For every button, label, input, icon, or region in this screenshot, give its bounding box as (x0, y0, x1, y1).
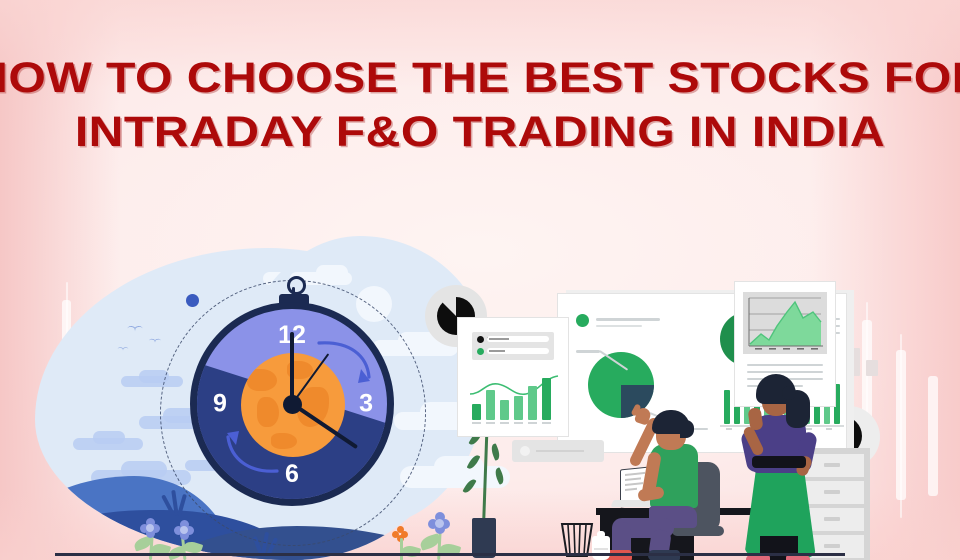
flower-icon (428, 512, 450, 534)
bird-icon (117, 347, 128, 353)
clock-numeral-6: 6 (285, 462, 299, 487)
console-device (512, 440, 604, 462)
title-line-2: INTRADAY F&O TRADING IN INDIA (0, 110, 960, 155)
list-card (472, 332, 554, 360)
title-line-1: HOW TO CHOOSE THE BEST STOCKS FOR (0, 56, 960, 101)
clock-numeral-9: 9 (213, 392, 227, 417)
clock-face: 12 3 6 9 (190, 302, 394, 506)
stopwatch-clock: 12 3 6 9 (160, 280, 428, 548)
left-dashboard-screen (458, 318, 568, 436)
illustration: 12 3 6 9 (0, 230, 960, 560)
flower-icon (140, 518, 160, 538)
bullet-dot-dark (477, 336, 484, 343)
clock-hour-hand (290, 332, 295, 404)
flower-icon (174, 520, 194, 540)
clock-orbit-dot (186, 294, 199, 307)
bird-icon (127, 326, 143, 334)
poster-canvas: HOW TO CHOOSE THE BEST STOCKS FOR INTRAD… (0, 0, 960, 560)
clock-center-hub (283, 395, 302, 414)
clockwise-arrow-icon (315, 335, 377, 391)
right-poster-area-chart (743, 292, 827, 354)
water-jug (592, 536, 610, 560)
woman-belt (752, 456, 806, 468)
plant-pot (472, 518, 496, 558)
ground-line (55, 553, 845, 556)
bullet-dot-green (477, 348, 484, 355)
clock-numeral-3: 3 (359, 392, 373, 417)
page-title: HOW TO CHOOSE THE BEST STOCKS FOR INTRAD… (0, 56, 960, 155)
counterclockwise-arrow-icon (219, 421, 283, 479)
area-chart-frame (743, 292, 827, 354)
status-dot-green (576, 314, 589, 327)
